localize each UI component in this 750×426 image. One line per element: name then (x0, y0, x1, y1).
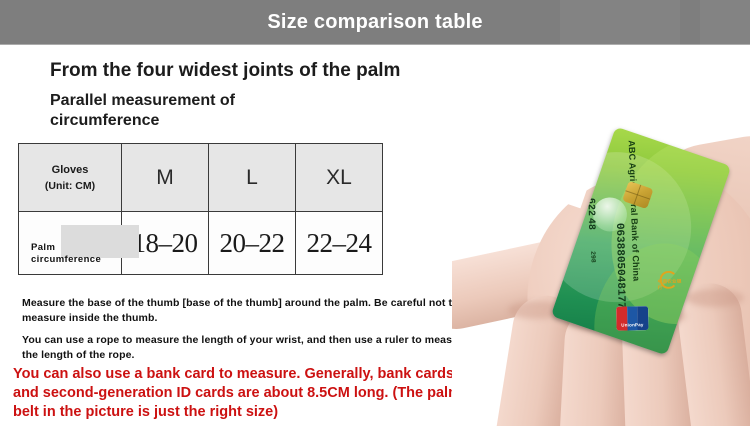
measure-note-thumb: Measure the base of the thumb [base of t… (22, 296, 492, 326)
table-header-row: Gloves (Unit: CM) M L XL (19, 144, 383, 212)
measure-note-rope: You can use a rope to measure the length… (22, 333, 472, 363)
heading-secondary: Parallel measurement of circumference (50, 91, 300, 131)
page-title: Size comparison table (267, 11, 482, 34)
table-header-label-cell: Gloves (Unit: CM) (19, 144, 122, 212)
hand-with-bank-card-photo: ABC Agricultural Bank of China 622 48 06… (452, 45, 750, 426)
card-small-code: 298 (589, 251, 596, 263)
bank-card-red-note: You can also use a bank card to measure.… (13, 365, 483, 422)
palm-circumference-cell: Palm circumference (19, 212, 122, 275)
range-value-l: 20–22 (220, 228, 285, 258)
header-bar: Size comparison table (0, 0, 750, 45)
size-letter-l: L (246, 166, 258, 189)
table-header-size-m: M (122, 144, 209, 212)
table-row: Palm circumference 18–20 20–22 22–24 (19, 212, 383, 275)
knuckle-shade (686, 289, 744, 307)
abc-bank-logo-icon: 中国农业银行 (657, 271, 683, 291)
size-chart-page: Size comparison table From the four wide… (0, 0, 750, 426)
range-value-xl: 22–24 (307, 228, 372, 258)
gloves-label: Gloves (19, 162, 121, 178)
heading-primary: From the four widest joints of the palm (50, 60, 400, 82)
size-letter-xl: XL (326, 166, 352, 189)
header-blotch (560, 0, 680, 45)
header-blotch (700, 0, 750, 45)
unionpay-logo-icon: UnionPay (616, 306, 648, 331)
unionpay-label: UnionPay (616, 322, 648, 328)
abc-logo-text: 中国农业银行 (658, 279, 684, 291)
gloves-unit-label: (Unit: CM) (19, 178, 121, 194)
size-letter-m: M (156, 166, 174, 189)
table-header-size-xl: XL (296, 144, 383, 212)
palm-value-l: 20–22 (209, 212, 296, 275)
table-header-size-l: L (209, 144, 296, 212)
range-value-m: 18–20 (133, 228, 198, 258)
size-comparison-table: Gloves (Unit: CM) M L XL Palm circumfere… (18, 143, 383, 275)
card-number-main: 0638805048177 (613, 223, 626, 309)
palm-circumference-label: Palm circumference (31, 221, 117, 266)
palm-value-xl: 22–24 (296, 212, 383, 275)
